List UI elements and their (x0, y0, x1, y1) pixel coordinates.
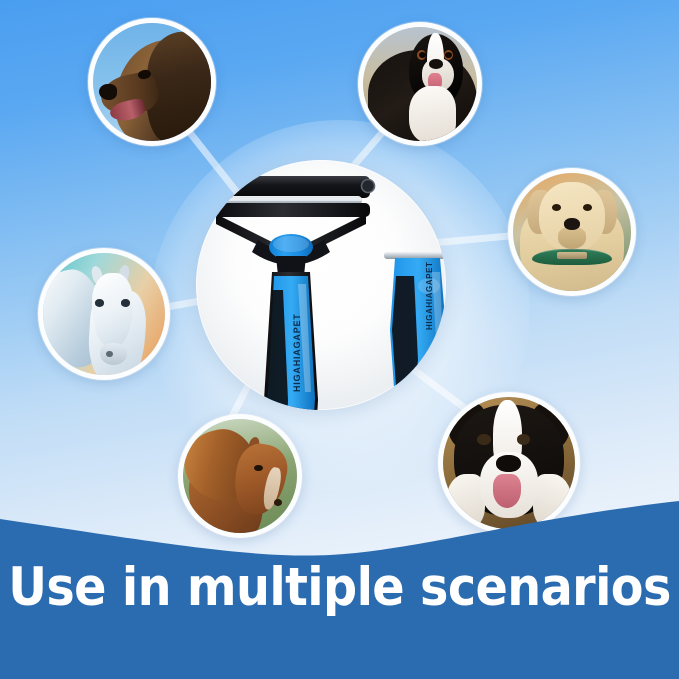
afghan-hound-photo (93, 23, 211, 141)
center-product-bubble[interactable]: HIGAHIAGAPET (196, 160, 446, 410)
dematting-rake (208, 160, 375, 410)
white-horse-photo (43, 253, 165, 375)
bubble-labrador[interactable] (508, 168, 636, 296)
connector-labrador (432, 235, 520, 243)
page-title: Use in multiple scenarios (0, 561, 679, 614)
poster: HIGAHIAGAPET (0, 0, 679, 679)
bubble-afghan-hound[interactable] (88, 18, 216, 146)
bubble-bernese-mountain-dog[interactable] (358, 22, 482, 146)
bernese-photo (363, 27, 477, 141)
bubble-white-horse[interactable] (38, 248, 170, 380)
product-photo-art: HIGAHIAGAPET (196, 160, 446, 410)
bottom-banner: Use in multiple scenarios Large dogs, ho… (0, 489, 679, 679)
rake-brand-text: HIGAHIAGAPET (292, 313, 302, 392)
labrador-photo (513, 173, 631, 291)
comb-brand-text: HIGAHIAGAPET (425, 261, 434, 330)
